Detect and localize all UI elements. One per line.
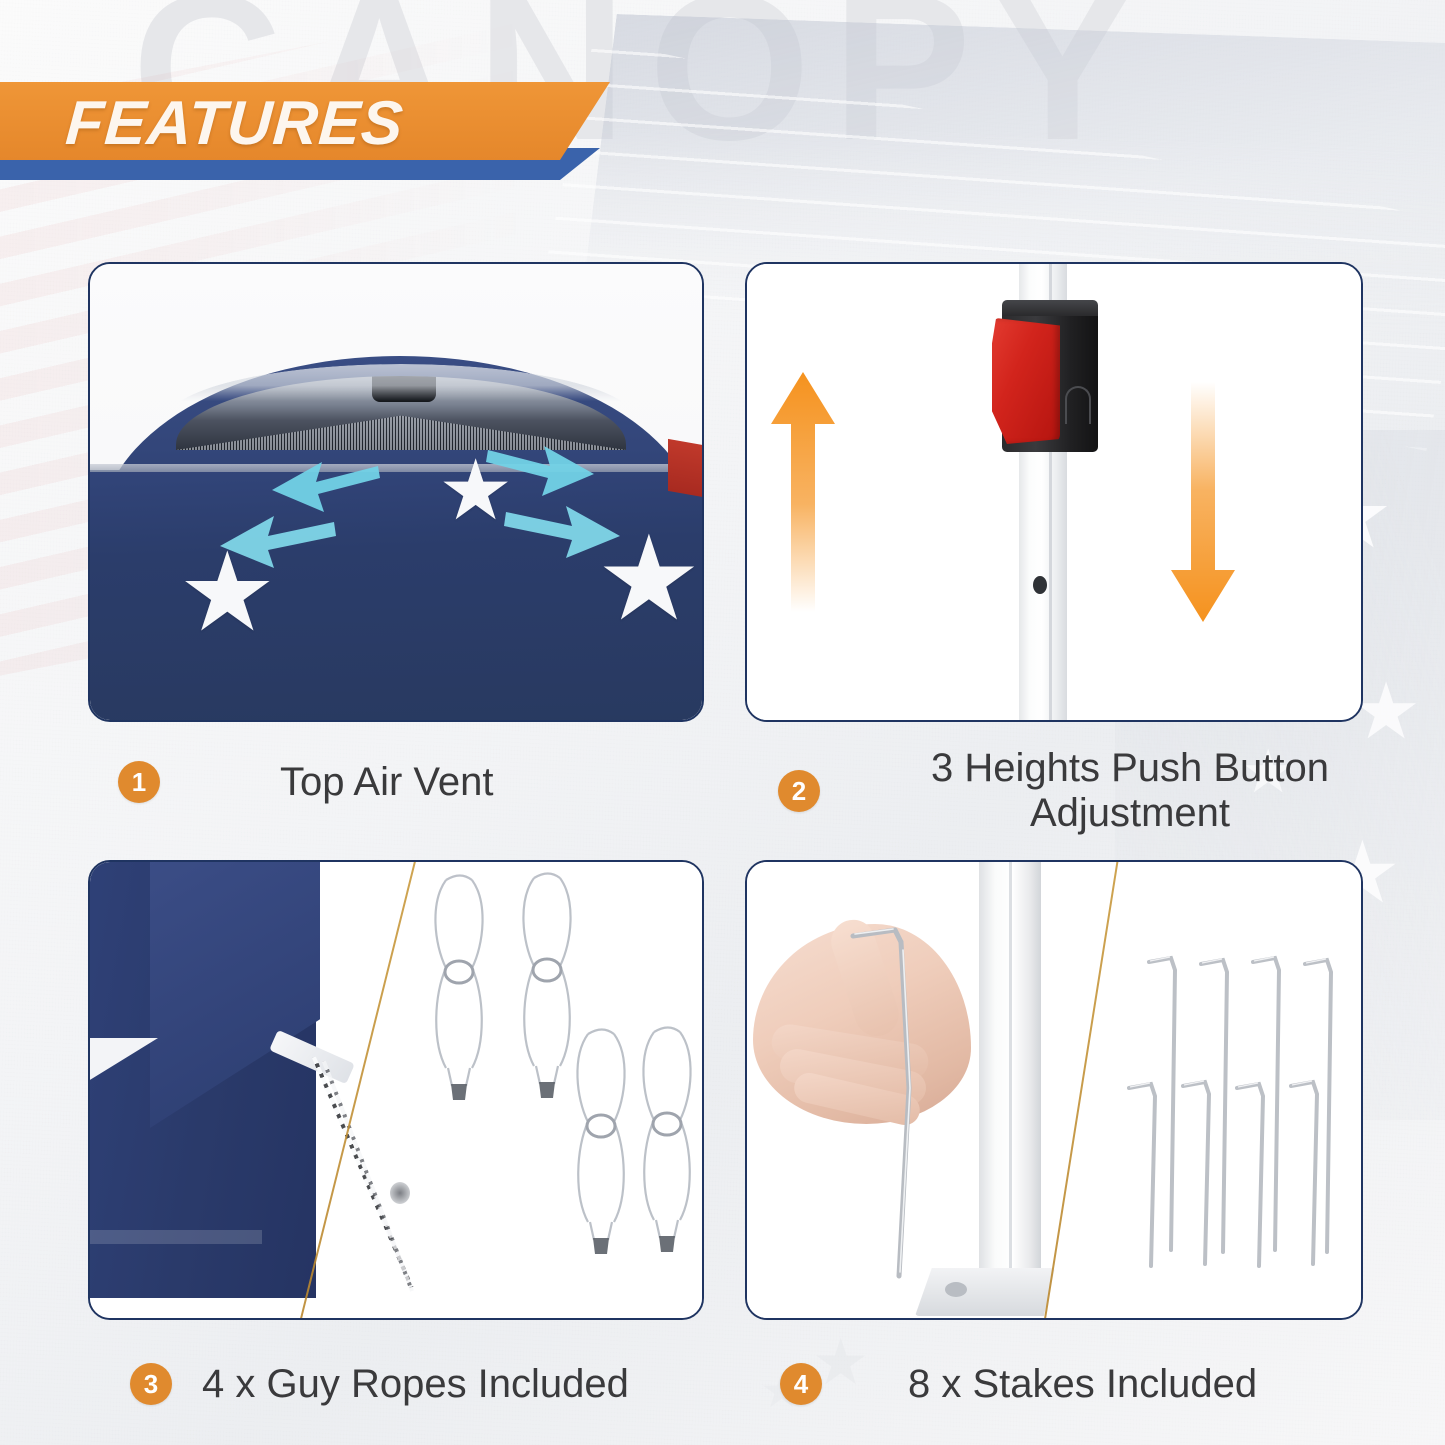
stake-icon [1179, 1078, 1223, 1268]
rope-knot-icon [390, 1182, 410, 1204]
feature-label-2: 3 Heights Push Button Adjustment [872, 746, 1388, 836]
leg-pole-edge [1009, 860, 1012, 1288]
feature-panel-top-air-vent[interactable]: ★ ★ ★ [88, 262, 704, 722]
pole-adjustment-hole [1033, 576, 1047, 594]
panel-frame: ★ ★ ★ [88, 262, 704, 722]
feature-label-4: 8 x Stakes Included [908, 1362, 1257, 1407]
arrow-up-icon [771, 372, 835, 612]
feature-badge-1: 1 [118, 761, 160, 803]
coiled-rope-icon [634, 1024, 700, 1254]
banner-title: FEATURES [63, 86, 406, 160]
coiled-rope-icon [568, 1026, 634, 1256]
feature-badge-2: 2 [778, 770, 820, 812]
red-push-button[interactable] [992, 318, 1060, 444]
feature-caption-4: 4 8 x Stakes Included [780, 1352, 1390, 1416]
canopy-red-stripe-edge [668, 439, 704, 497]
foot-plate-hole [945, 1282, 967, 1297]
feature-label-3: 4 x Guy Ropes Included [202, 1362, 629, 1407]
canopy-seam [88, 464, 704, 472]
stake-icon [1233, 1080, 1277, 1270]
panel-frame [88, 860, 704, 1320]
stake-icon [1125, 1080, 1169, 1270]
panel-frame [745, 860, 1363, 1320]
feature-label-1: Top Air Vent [280, 760, 493, 805]
arrow-down-icon [1171, 382, 1235, 622]
canopy-hem-seam [88, 1230, 262, 1244]
feature-caption-1: 1 Top Air Vent [118, 750, 718, 814]
feature-badge-4: 4 [780, 1363, 822, 1405]
feature-badge-3: 3 [130, 1363, 172, 1405]
panel-frame [745, 262, 1363, 722]
feature-panel-push-button-adjustment[interactable] [745, 262, 1363, 722]
airflow-arrow-left-lower-icon [208, 510, 338, 580]
feature-caption-2: 2 3 Heights Push Button Adjustment [778, 736, 1388, 846]
feature-panel-guy-ropes[interactable] [88, 860, 704, 1320]
feature-caption-3: 3 4 x Guy Ropes Included [130, 1352, 730, 1416]
held-stake-icon [847, 920, 957, 1280]
airflow-arrow-right-lower-icon [502, 500, 632, 570]
coiled-rope-icon [426, 872, 492, 1102]
collar-top-face [1002, 300, 1098, 316]
stake-icon [1287, 1078, 1331, 1268]
feature-panel-stakes[interactable] [745, 860, 1363, 1320]
collar-notch-icon [1065, 386, 1091, 424]
